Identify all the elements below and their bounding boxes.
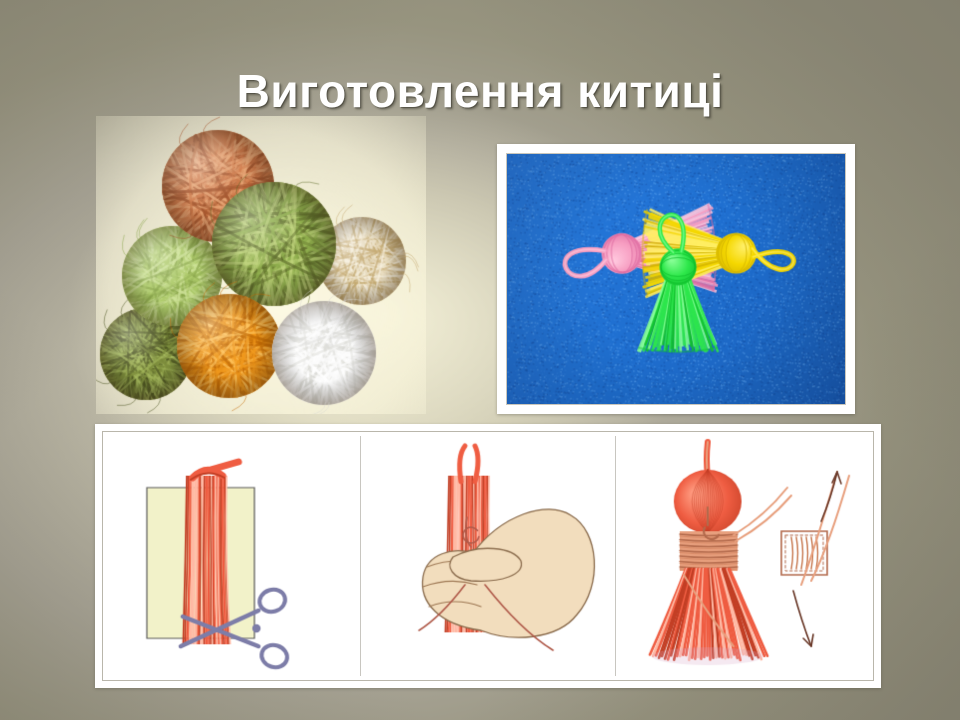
step-3-canvas bbox=[616, 436, 869, 676]
step-panel-3 bbox=[616, 436, 869, 676]
step-1-canvas bbox=[107, 436, 360, 676]
steps-photo-inner bbox=[102, 431, 874, 681]
tassels-photo-frame bbox=[497, 144, 855, 414]
slide-root: Виготовлення китиці bbox=[0, 0, 960, 720]
tassels-photo-inner bbox=[506, 153, 846, 405]
steps-row bbox=[107, 436, 869, 676]
step-2-canvas bbox=[361, 436, 614, 676]
slide-title: Виготовлення китиці bbox=[0, 64, 960, 118]
steps-photo-frame bbox=[95, 424, 881, 688]
tassels-canvas bbox=[507, 154, 845, 404]
step-panel-2 bbox=[361, 436, 615, 676]
yarn-balls-canvas bbox=[96, 116, 426, 414]
yarn-balls-image bbox=[96, 116, 426, 414]
step-panel-1 bbox=[107, 436, 361, 676]
